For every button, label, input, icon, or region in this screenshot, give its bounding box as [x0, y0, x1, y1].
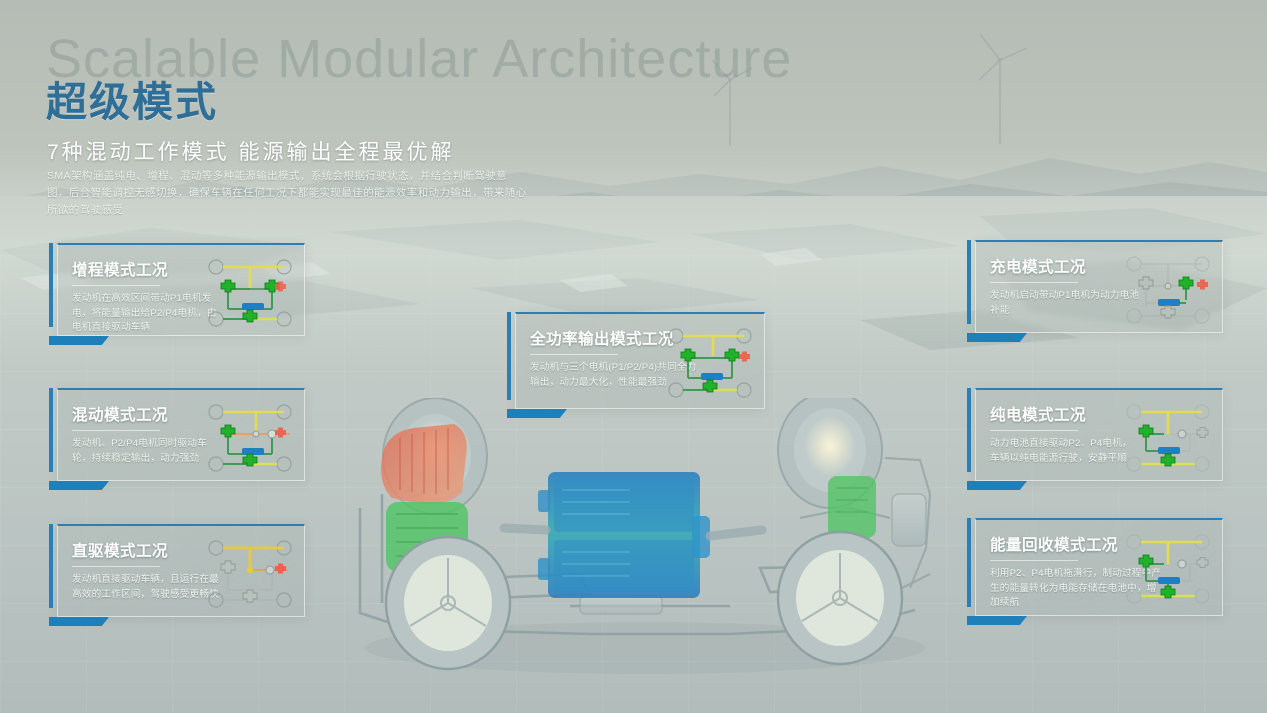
page-description: SMA架构涵盖纯电、增程、混动等多种能源输出模式，系统会根据行驶状态，并结合判断…	[47, 168, 527, 219]
title-divider	[530, 354, 618, 355]
card-description: 动力电池直接驱动P2、P4电机，车辆以纯电能源行驶，安静平顺	[990, 437, 1140, 466]
title-divider	[990, 560, 1078, 561]
card-description: 发动机在高效区间带动P1电机发电，将能量输出给P2/P4电机，由电机直接驱动车辆	[72, 292, 222, 336]
page-subtitle: 7种混动工作模式 能源输出全程最优解	[47, 136, 455, 166]
title-divider	[72, 285, 160, 286]
slide-canvas: 增程模式工况 发动机在高效区间带动P1电机发电，将能量输出给P2/P4电机，由电…	[0, 0, 1267, 713]
card-description: 发动机直接驱动车辆，且运行在最高效的工作区间，驾驶感受更畅快	[72, 573, 222, 602]
card-regen[interactable]: 能量回收模式工况 利用P2、P4电机拖滑行，制动过程中产生的能量转化为电能存储在…	[975, 518, 1223, 616]
powertrain-diagram-pure-electric	[1124, 402, 1212, 479]
wheel-rear-near	[778, 532, 902, 664]
card-range-extender[interactable]: 增程模式工况 发动机在高效区间带动P1电机发电，将能量输出给P2/P4电机，由电…	[57, 243, 305, 336]
powertrain-diagram-hybrid	[206, 402, 294, 479]
p4-motor-highlight	[828, 476, 876, 538]
vehicle-chassis-illustration	[330, 398, 960, 683]
card-description: 发动机启动带动P1电机为动力电池补能	[990, 289, 1140, 318]
powertrain-diagram-regen	[1124, 532, 1212, 613]
card-pure-electric[interactable]: 纯电模式工况 动力电池直接驱动P2、P4电机，车辆以纯电能源行驶，安静平顺	[975, 388, 1223, 481]
battery-pack-highlight	[538, 472, 710, 598]
card-full-power[interactable]: 全功率输出模式工况 发动机与三个电机(P1/P2/P4)共同全力输出，动力最大化…	[515, 312, 765, 409]
engine-highlight	[381, 424, 467, 504]
card-direct-drive[interactable]: 直驱模式工况 发动机直接驱动车辆，且运行在最高效的工作区间，驾驶感受更畅快	[57, 524, 305, 617]
card-description: 发动机、P2/P4电机同时驱动车轮，持续稳定输出，动力强劲	[72, 437, 222, 466]
title-divider	[72, 566, 160, 567]
wind-turbine-icon	[965, 32, 1035, 147]
wheel-front-near	[386, 537, 510, 669]
powertrain-diagram-full-power	[666, 326, 754, 407]
title-divider	[72, 430, 160, 431]
title-divider	[990, 282, 1078, 283]
title-divider	[990, 430, 1078, 431]
powertrain-diagram-charging	[1124, 254, 1212, 331]
card-charging[interactable]: 充电模式工况 发动机启动带动P1电机为动力电池补能	[975, 240, 1223, 333]
powertrain-diagram-direct-drive	[206, 538, 294, 615]
card-hybrid[interactable]: 混动模式工况 发动机、P2/P4电机同时驱动车轮，持续稳定输出，动力强劲	[57, 388, 305, 481]
powertrain-diagram-range-extender	[206, 257, 294, 334]
page-title: 超级模式	[46, 68, 218, 128]
